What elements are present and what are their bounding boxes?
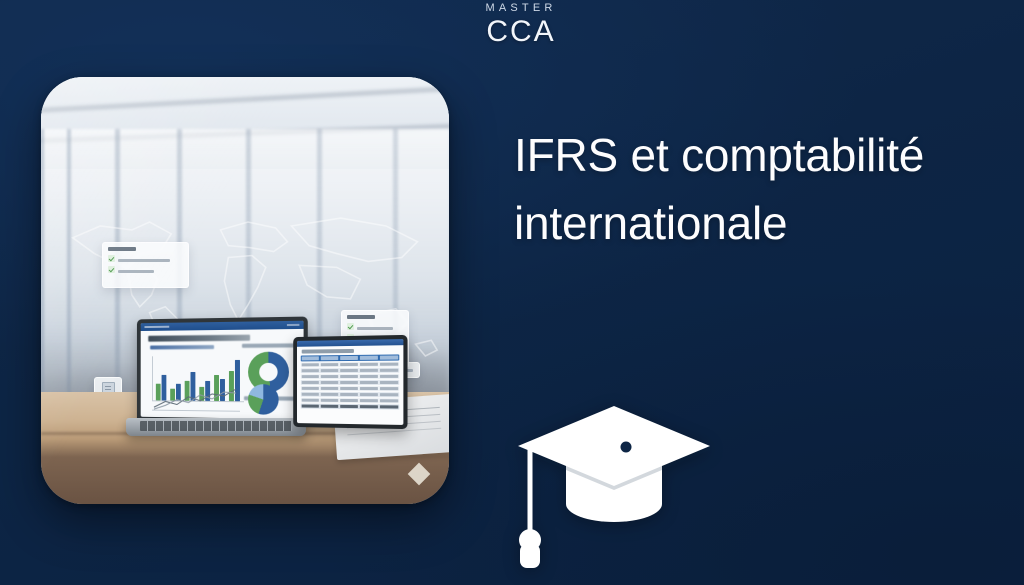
course-illustration-photo	[41, 77, 449, 504]
laptop-chart-label	[150, 345, 214, 349]
checklist-item-text	[357, 327, 393, 330]
table-header-row	[301, 354, 400, 361]
pie-chart	[248, 384, 279, 415]
table-total-row	[301, 404, 400, 410]
donut-chart-label	[242, 343, 297, 347]
check-icon	[108, 266, 115, 273]
checklist-item-text	[118, 259, 170, 262]
checklist-item	[347, 323, 403, 330]
table-row	[301, 368, 400, 373]
laptop-lid	[137, 317, 308, 424]
floating-card-title	[108, 247, 136, 251]
tablet-screen	[297, 339, 403, 425]
france-master-cca-logo: FRANCE MASTER CCA	[461, 0, 581, 47]
checklist-item-text	[118, 270, 154, 273]
line-chart	[152, 386, 240, 413]
check-icon	[108, 255, 115, 262]
tablet-screen-title	[302, 349, 354, 354]
page-title-line-2: internationale	[514, 189, 1009, 257]
course-illustration-card	[41, 77, 449, 504]
checklist-item	[108, 266, 183, 273]
table-row	[301, 386, 400, 391]
check-icon	[347, 323, 354, 330]
table-row	[301, 374, 400, 379]
laptop-device	[126, 318, 306, 436]
table-row	[301, 362, 400, 368]
table-row	[301, 392, 400, 398]
laptop-screen-title	[148, 335, 250, 342]
tablet-device	[293, 335, 407, 429]
floating-card-title	[347, 315, 375, 319]
tablet-data-table	[301, 354, 400, 409]
table-row	[301, 380, 400, 385]
laptop-screen	[141, 321, 304, 420]
page-title: IFRS et comptabilité internationale	[514, 121, 1009, 257]
graduation-cap-icon	[504, 388, 724, 568]
tablet-app-titlebar	[297, 339, 403, 347]
laptop-base	[126, 418, 306, 436]
checklist-item	[108, 255, 183, 262]
page-title-line-1: IFRS et comptabilité	[514, 121, 1009, 189]
floating-checklist-card	[102, 242, 189, 288]
laptop-app-titlebar	[141, 321, 304, 331]
logo-line-cca: CCA	[461, 17, 581, 47]
logo-line-master: MASTER	[461, 0, 581, 16]
table-row	[301, 398, 400, 404]
laptop-keyboard	[140, 421, 292, 431]
slide-background: FRANCE MASTER CCA IFRS et comptabilité i…	[0, 0, 1024, 585]
